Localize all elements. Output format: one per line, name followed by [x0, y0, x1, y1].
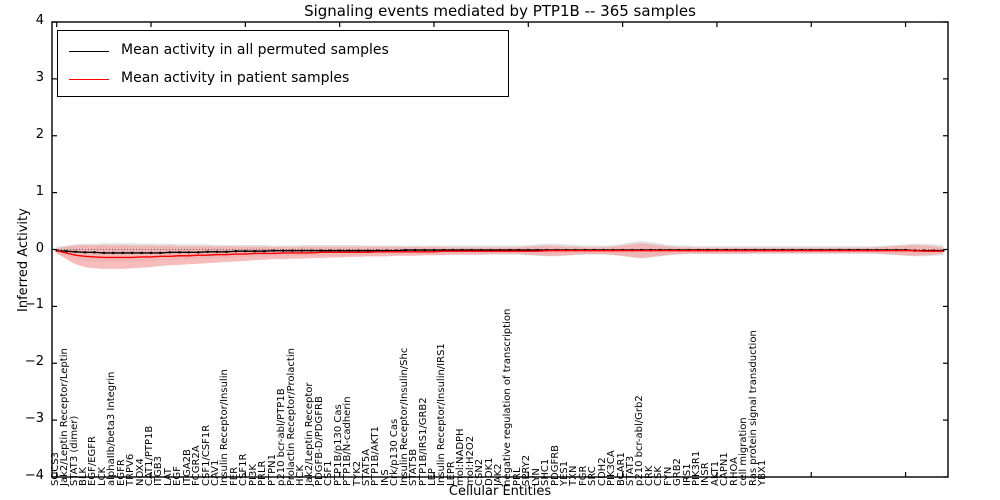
series-marker	[301, 250, 303, 252]
series-marker	[423, 249, 425, 251]
series-marker	[216, 251, 218, 253]
series-marker	[141, 252, 143, 254]
x-tick-label: YBX1	[757, 460, 768, 486]
y-tick-label: −4	[0, 468, 44, 483]
legend-box	[57, 30, 509, 97]
y-tick-label: 4	[0, 13, 44, 28]
series-marker	[414, 249, 416, 251]
series-marker	[225, 251, 227, 253]
y-tick-label: 3	[0, 70, 44, 85]
y-tick-label: 1	[0, 184, 44, 199]
series-marker	[207, 251, 209, 253]
series-marker	[131, 252, 133, 254]
x-tick-label: negative regulation of transcription	[502, 309, 513, 486]
series-marker	[273, 250, 275, 252]
series-marker	[235, 250, 237, 252]
series-marker	[348, 250, 350, 252]
series-marker	[178, 251, 180, 253]
series-marker	[291, 250, 293, 252]
series-marker	[433, 249, 435, 251]
series-marker	[197, 251, 199, 253]
series-marker	[112, 252, 114, 254]
y-tick-label: 0	[0, 241, 44, 256]
legend-swatch	[69, 51, 109, 52]
series-marker	[254, 250, 256, 252]
series-marker	[320, 250, 322, 252]
series-marker	[122, 252, 124, 254]
series-marker	[357, 250, 359, 252]
series-marker	[103, 252, 105, 254]
series-marker	[263, 250, 265, 252]
series-marker	[93, 251, 95, 253]
legend-swatch	[69, 79, 109, 80]
legend-label: Mean activity in all permuted samples	[121, 42, 389, 58]
series-marker	[367, 250, 369, 252]
series-marker	[244, 250, 246, 252]
series-marker	[339, 250, 341, 252]
y-tick-label: 2	[0, 127, 44, 142]
y-tick-label: −2	[0, 354, 44, 369]
series-marker	[150, 252, 152, 254]
series-marker	[282, 250, 284, 252]
series-marker	[188, 251, 190, 253]
y-tick-label: −3	[0, 411, 44, 426]
series-marker	[310, 250, 312, 252]
series-marker	[405, 249, 407, 251]
series-marker	[159, 252, 161, 254]
legend-label: Mean activity in patient samples	[121, 70, 349, 86]
series-marker	[84, 251, 86, 253]
series-marker	[329, 250, 331, 252]
series-marker	[65, 250, 67, 252]
chart-figure: Signaling events mediated by PTP1B -- 36…	[0, 0, 1000, 500]
y-tick-label: −1	[0, 297, 44, 312]
series-marker	[74, 251, 76, 253]
series-marker	[169, 251, 171, 253]
